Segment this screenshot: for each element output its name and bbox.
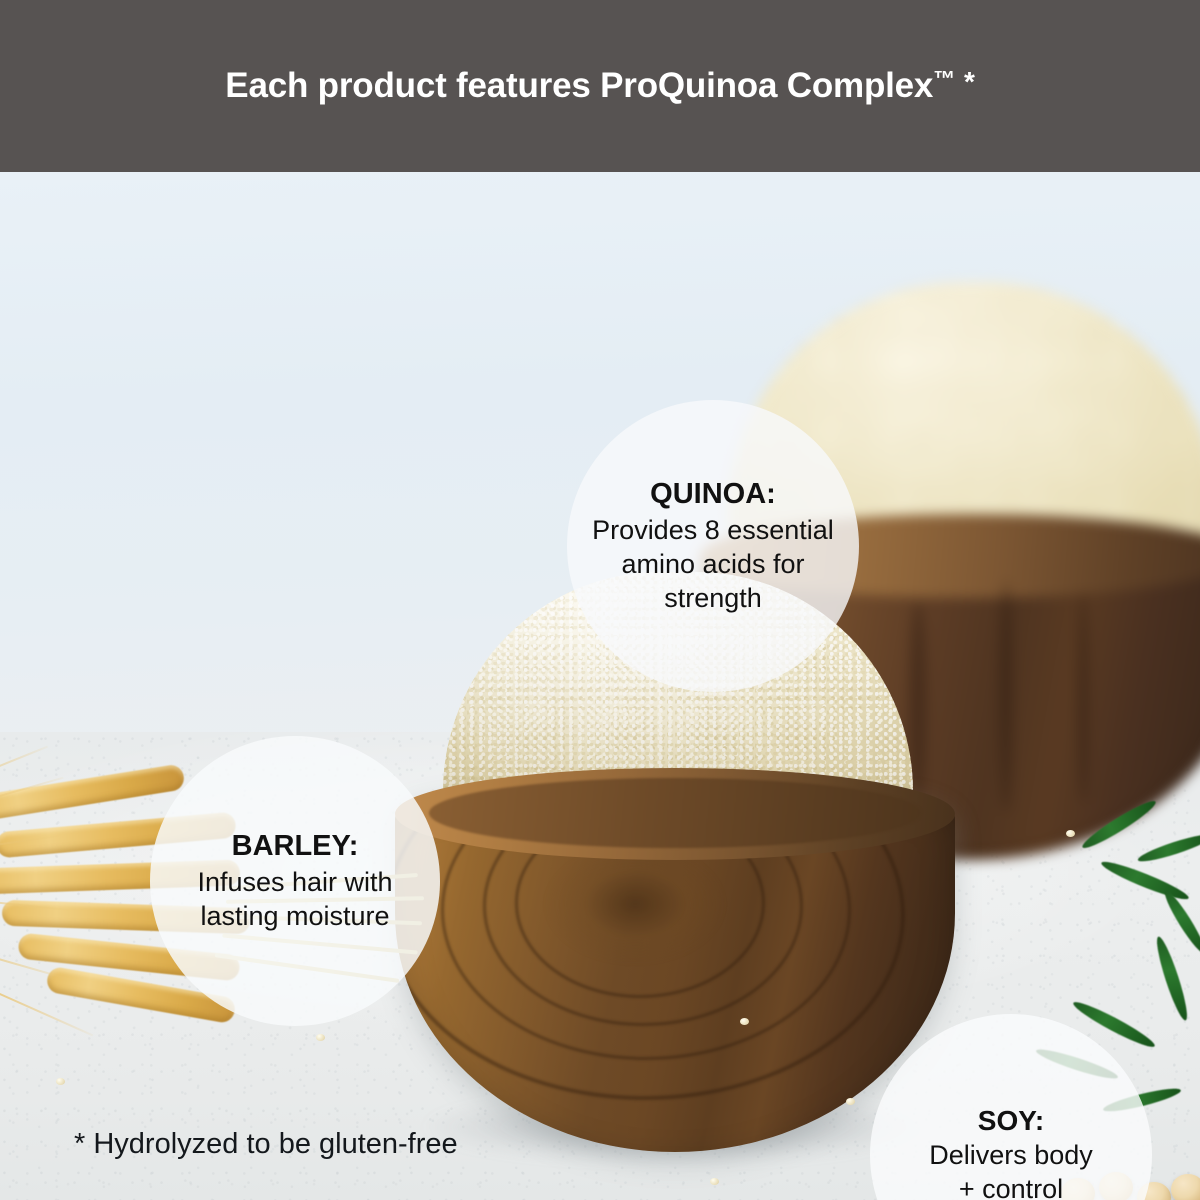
soybean — [1171, 1174, 1200, 1200]
page-title: Each product features ProQuinoa Complex™… — [225, 66, 974, 106]
product-ingredients-photo: QUINOA: Provides 8 essential amino acids… — [0, 172, 1200, 1200]
footnote-asterisk-marker: * — [964, 66, 975, 98]
rosemary-leaf — [1136, 830, 1200, 866]
scattered-quinoa-grain — [316, 1034, 325, 1041]
rosemary-leaf — [1152, 935, 1192, 1023]
header-bar: Each product features ProQuinoa Complex™… — [0, 0, 1200, 172]
callout-quinoa: QUINOA: Provides 8 essential amino acids… — [567, 400, 859, 692]
page-title-text: Each product features ProQuinoa Complex — [225, 66, 933, 106]
callout-quinoa-body: Provides 8 essential amino acids for str… — [578, 513, 848, 615]
front-bowl-inner-rim — [429, 778, 921, 848]
callout-quinoa-body-line: strength — [592, 581, 834, 615]
footnote-text: * Hydrolyzed to be gluten-free — [74, 1128, 458, 1161]
callout-quinoa-body-line: amino acids for — [592, 547, 834, 581]
callout-soy-body-line: + control — [929, 1172, 1093, 1200]
back-bowl-woodgrain-line — [1000, 582, 1012, 812]
scattered-quinoa-grain — [846, 1098, 855, 1105]
callout-quinoa-title: QUINOA: — [650, 477, 776, 512]
callout-barley-body-line: lasting moisture — [197, 899, 392, 933]
rosemary-leaf — [1099, 857, 1191, 904]
scattered-quinoa-grain — [710, 1178, 719, 1185]
callout-barley: BARLEY: Infuses hair with lasting moistu… — [150, 736, 440, 1026]
callout-soy-body: Delivers body + control — [911, 1138, 1111, 1200]
callout-barley-title: BARLEY: — [232, 829, 359, 864]
infographic-page: Each product features ProQuinoa Complex™… — [0, 0, 1200, 1200]
wheat-head — [0, 763, 186, 822]
scattered-quinoa-grain — [56, 1078, 65, 1085]
back-bowl-woodgrain-line — [1078, 592, 1088, 802]
callout-barley-body: Infuses hair with lasting moisture — [189, 865, 400, 933]
callout-soy-body-line: Delivers body — [929, 1138, 1093, 1172]
scattered-quinoa-grain — [1066, 830, 1075, 837]
callout-soy-title: SOY: — [978, 1104, 1044, 1138]
scattered-quinoa-grain — [740, 1018, 749, 1025]
trademark-symbol: ™ — [933, 66, 955, 92]
callout-barley-body-line: Infuses hair with — [197, 865, 392, 899]
callout-quinoa-body-line: Provides 8 essential — [592, 513, 834, 547]
